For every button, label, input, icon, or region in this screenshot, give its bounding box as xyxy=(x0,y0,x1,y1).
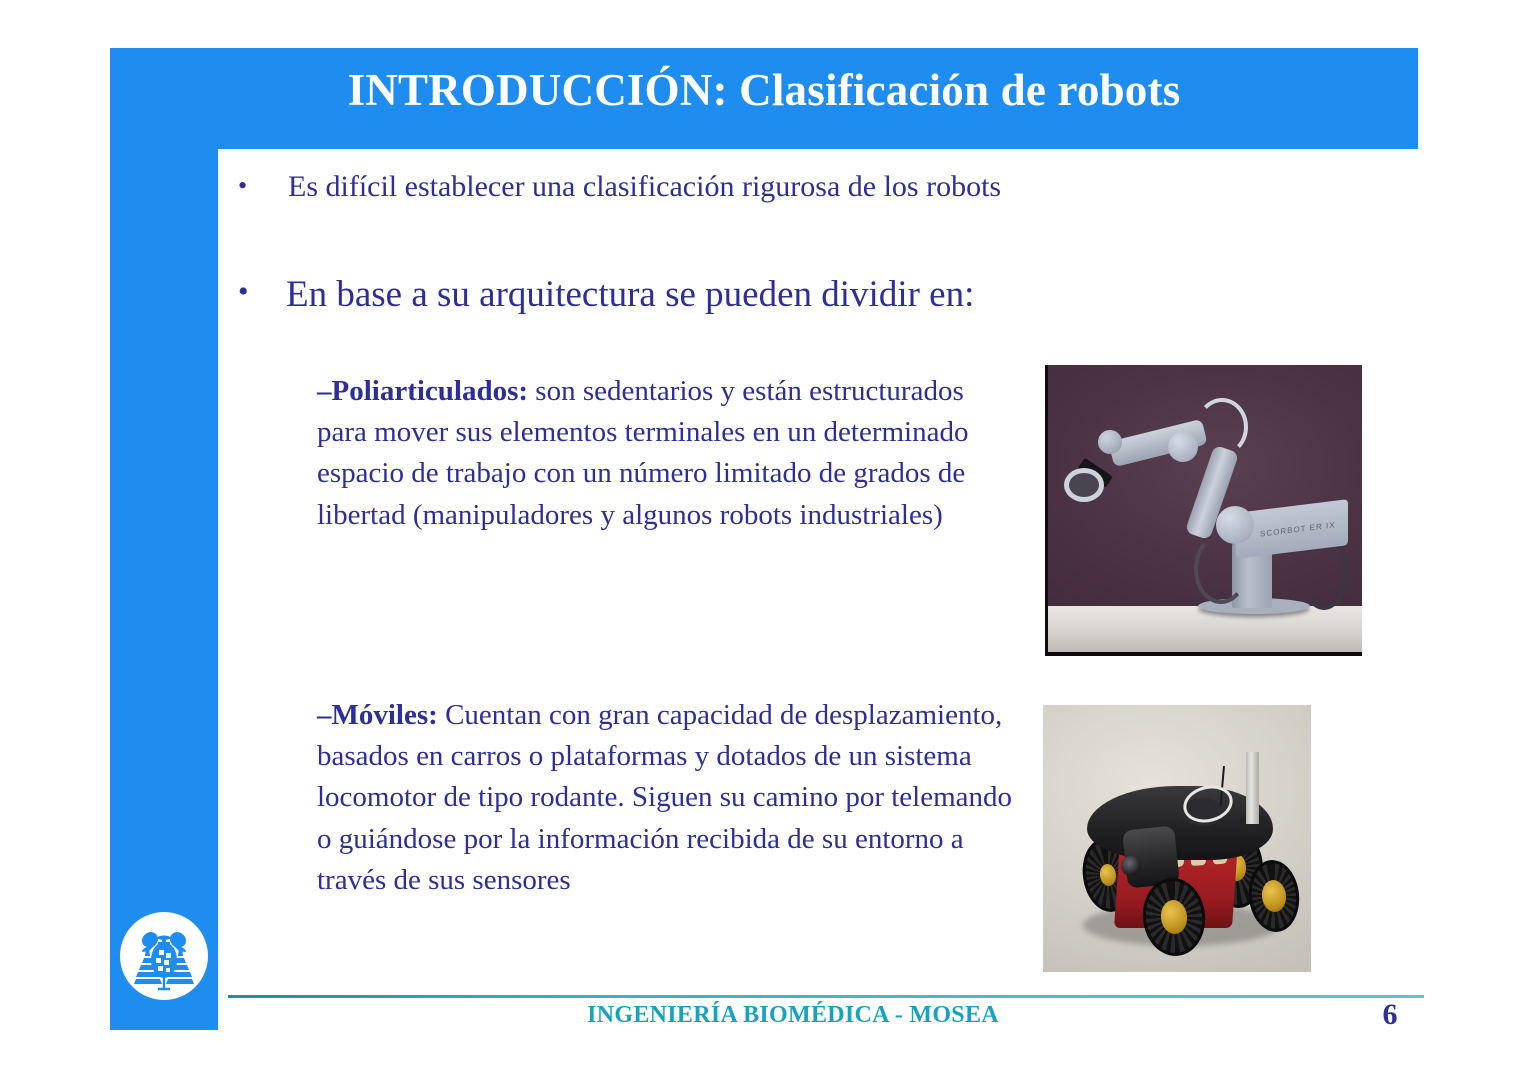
slide-title: INTRODUCCIÓN: Clasificación de robots xyxy=(110,66,1418,116)
sub-item-dash: – xyxy=(317,375,332,407)
university-crest-logo xyxy=(120,912,208,1000)
bullet-item-1: • Es difícil establecer una clasificació… xyxy=(238,168,1388,206)
arm-wrist-joint xyxy=(1098,430,1122,454)
sub-item-term-moviles: Móviles: xyxy=(332,699,438,731)
arm-cable-icon xyxy=(1194,534,1248,604)
arm-gripper-icon xyxy=(1064,468,1104,502)
bullet-item-1-text: Es difícil establecer una clasificación … xyxy=(288,168,1001,206)
robot-camera-lens-icon xyxy=(1121,856,1141,876)
arm-shoulder-joint xyxy=(1216,506,1254,544)
sub-item-poliarticulados: –Poliarticulados: son sedentarios y está… xyxy=(317,371,1007,536)
page-number: 6 xyxy=(1360,998,1420,1032)
footer-divider xyxy=(228,995,1424,998)
robot-mast xyxy=(1246,752,1259,824)
robotic-arm-photo: SCORBOT ER IX xyxy=(1045,365,1362,656)
bullet-dot-icon: • xyxy=(238,168,288,203)
sub-item-term-poliarticulados: Poliarticulados: xyxy=(332,375,529,407)
bullet-item-2-text: En base a su arquitectura se pueden divi… xyxy=(286,272,974,318)
footer-text: INGENIERÍA BIOMÉDICA - MOSEA xyxy=(228,1002,1358,1029)
crest-icon xyxy=(120,912,208,1000)
mobile-robot-photo xyxy=(1043,705,1311,972)
slide-canvas: INTRODUCCIÓN: Clasificación de robots • … xyxy=(0,0,1527,1080)
bullet-dot-icon: • xyxy=(238,272,286,311)
arm-cable-icon xyxy=(1196,398,1248,456)
arm-photo-table xyxy=(1048,606,1362,652)
sub-item-moviles: –Móviles: Cuentan con gran capacidad de … xyxy=(317,695,1027,901)
sub-item-dash: – xyxy=(317,699,332,731)
arm-elbow-joint xyxy=(1168,432,1198,462)
left-blue-stripe xyxy=(110,48,218,1030)
bullet-item-2: • En base a su arquitectura se pueden di… xyxy=(238,272,1388,318)
